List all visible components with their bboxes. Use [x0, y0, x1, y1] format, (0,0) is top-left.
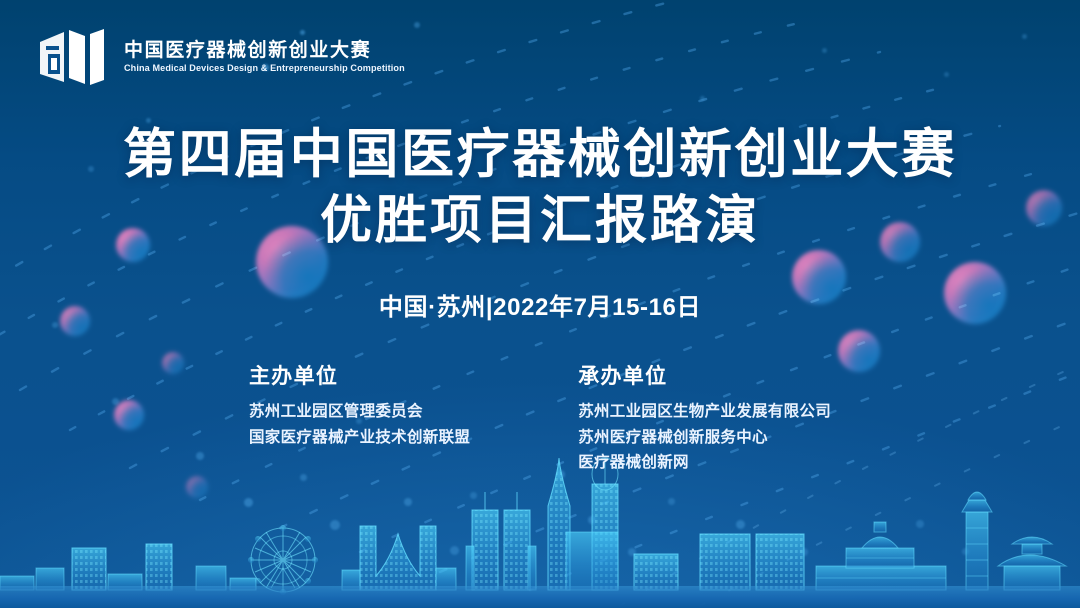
organizer-coorganizer: 承办单位 苏州工业园区生物产业发展有限公司 苏州医疗器械创新服务中心 医疗器械创…: [578, 364, 831, 475]
page-title-line2: 优胜项目汇报路演: [320, 194, 760, 248]
organizer-host-entry: 国家医疗器械产业技术创新联盟: [249, 425, 470, 450]
competition-logo: 中国医疗器械创新创业大赛 China Medical Devices Desig…: [38, 26, 413, 88]
organizer-section: 主办单位 苏州工业园区管理委员会 国家医疗器械产业技术创新联盟 承办单位 苏州工…: [249, 364, 831, 475]
event-date-line: 中国·苏州|2022年7月15-16日: [379, 287, 701, 322]
organizer-coorganizer-heading: 承办单位: [578, 364, 831, 390]
poster-canvas: 中国医疗器械创新创业大赛 China Medical Devices Desig…: [0, 0, 1080, 608]
organizer-coorganizer-entry: 苏州工业园区生物产业发展有限公司: [578, 399, 831, 424]
organizer-coorganizer-entry: 医疗器械创新网: [578, 450, 831, 475]
organizer-host-heading: 主办单位: [249, 364, 470, 390]
organizer-host: 主办单位 苏州工业园区管理委员会 国家医疗器械产业技术创新联盟: [249, 364, 470, 449]
poster-content: 第四届中国医疗器械创新创业大赛 优胜项目汇报路演 中国·苏州|2022年7月15…: [0, 0, 1080, 608]
logo-title-en: China Medical Devices Design & Entrepren…: [124, 63, 405, 74]
organizer-coorganizer-entry: 苏州医疗器械创新服务中心: [578, 425, 831, 450]
organizer-host-entry: 苏州工业园区管理委员会: [249, 399, 470, 424]
open-door-logo-icon: [38, 26, 110, 88]
logo-title-cn: 中国医疗器械创新创业大赛: [124, 40, 413, 61]
page-title-line1: 第四届中国医疗器械创新创业大赛: [123, 127, 957, 182]
